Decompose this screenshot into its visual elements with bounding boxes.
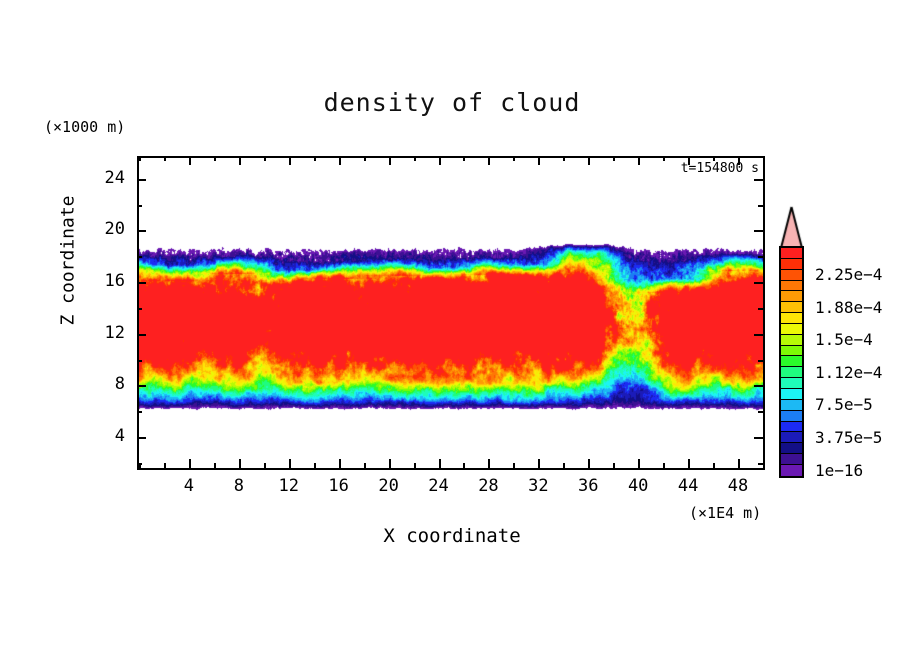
tick-mark <box>364 156 366 161</box>
tick-mark <box>638 459 640 468</box>
tick-mark <box>758 360 763 362</box>
tick-mark <box>139 156 141 161</box>
colorbar-band <box>781 465 802 476</box>
tick-mark <box>663 463 665 468</box>
y-tick-label: 24 <box>93 168 125 188</box>
tick-mark <box>164 156 166 161</box>
colorbar-band <box>781 270 802 281</box>
tick-mark <box>758 205 763 207</box>
tick-mark <box>137 411 142 413</box>
y-tick-label: 20 <box>93 219 125 239</box>
x-axis-title: X coordinate <box>232 525 672 547</box>
tick-mark <box>754 230 763 232</box>
colorbar-band <box>781 422 802 433</box>
colorbar-tick-label: 2.25e−4 <box>815 265 882 284</box>
tick-mark <box>389 156 391 165</box>
colorbar-band <box>781 378 802 389</box>
x-tick-label: 20 <box>369 476 409 496</box>
tick-mark <box>137 179 146 181</box>
tick-mark <box>137 334 146 336</box>
tick-mark <box>763 463 765 468</box>
tick-mark <box>189 459 191 468</box>
colorbar-band <box>781 356 802 367</box>
tick-mark <box>214 463 216 468</box>
tick-mark <box>189 156 191 165</box>
colorbar-band <box>781 454 802 465</box>
tick-mark <box>239 459 241 468</box>
tick-mark <box>488 459 490 468</box>
x-tick-label: 16 <box>319 476 359 496</box>
colorbar-band <box>781 335 802 346</box>
x-tick-label: 4 <box>169 476 209 496</box>
tick-mark <box>137 282 146 284</box>
y-tick-label: 12 <box>93 323 125 343</box>
tick-mark <box>638 156 640 165</box>
plot-area: t=154800 s <box>137 156 765 470</box>
tick-mark <box>513 156 515 161</box>
colorbar-tick-label: 1e−16 <box>815 461 863 480</box>
colorbar-band <box>781 389 802 400</box>
y-axis-unit-label: (×1000 m) <box>44 118 125 136</box>
colorbar-band <box>781 432 802 443</box>
cloud-density-heatmap <box>139 158 763 468</box>
tick-mark <box>289 459 291 468</box>
colorbar-band <box>781 324 802 335</box>
tick-mark <box>754 385 763 387</box>
tick-mark <box>613 156 615 161</box>
colorbar-bands <box>779 246 804 478</box>
tick-mark <box>488 156 490 165</box>
tick-mark <box>414 156 416 161</box>
x-tick-label: 36 <box>568 476 608 496</box>
x-tick-label: 12 <box>269 476 309 496</box>
x-tick-label: 8 <box>219 476 259 496</box>
colorbar-tick-label: 3.75e−5 <box>815 428 882 447</box>
tick-mark <box>137 360 142 362</box>
tick-mark <box>414 463 416 468</box>
colorbar-band <box>781 367 802 378</box>
x-tick-label: 48 <box>718 476 758 496</box>
colorbar-band <box>781 346 802 357</box>
tick-mark <box>588 156 590 165</box>
tick-mark <box>439 459 441 468</box>
tick-mark <box>738 459 740 468</box>
colorbar-tick-label: 1.12e−4 <box>815 363 882 382</box>
tick-mark <box>214 156 216 161</box>
tick-mark <box>239 156 241 165</box>
colorbar-tick-label: 1.88e−4 <box>815 298 882 317</box>
tick-mark <box>314 463 316 468</box>
colorbar-tick-label: 7.5e−5 <box>815 395 873 414</box>
tick-mark <box>754 334 763 336</box>
tick-mark <box>289 156 291 165</box>
x-tick-label: 32 <box>518 476 558 496</box>
y-tick-label: 4 <box>93 426 125 446</box>
tick-mark <box>563 463 565 468</box>
colorbar-band <box>781 411 802 422</box>
tick-mark <box>758 308 763 310</box>
colorbar: 1e−163.75e−57.5e−51.12e−41.5e−41.88e−42.… <box>779 205 806 478</box>
y-tick-label: 16 <box>93 271 125 291</box>
colorbar-band <box>781 400 802 411</box>
tick-mark <box>588 459 590 468</box>
x-tick-label: 24 <box>419 476 459 496</box>
tick-mark <box>389 459 391 468</box>
tick-mark <box>439 156 441 165</box>
colorbar-tick-label: 1.5e−4 <box>815 330 873 349</box>
tick-mark <box>538 459 540 468</box>
tick-mark <box>613 463 615 468</box>
x-tick-label: 44 <box>668 476 708 496</box>
tick-mark <box>463 156 465 161</box>
x-tick-label: 40 <box>618 476 658 496</box>
tick-mark <box>463 463 465 468</box>
y-axis-title: Z coordinate <box>58 181 79 341</box>
tick-mark <box>713 463 715 468</box>
colorbar-band <box>781 248 802 259</box>
tick-mark <box>538 156 540 165</box>
tick-mark <box>137 256 142 258</box>
tick-mark <box>137 385 146 387</box>
colorbar-band <box>781 443 802 454</box>
tick-mark <box>563 156 565 161</box>
tick-mark <box>364 463 366 468</box>
tick-mark <box>758 411 763 413</box>
tick-mark <box>754 282 763 284</box>
colorbar-band <box>781 291 802 302</box>
y-tick-label: 8 <box>93 374 125 394</box>
tick-mark <box>754 437 763 439</box>
page-title: density of cloud <box>0 88 904 117</box>
tick-mark <box>137 205 142 207</box>
colorbar-band <box>781 302 802 313</box>
tick-mark <box>137 437 146 439</box>
tick-mark <box>688 459 690 468</box>
colorbar-overflow-arrow <box>779 205 804 249</box>
timestamp-annotation: t=154800 s <box>681 161 759 176</box>
colorbar-band <box>781 281 802 292</box>
x-tick-label: 28 <box>468 476 508 496</box>
tick-mark <box>339 156 341 165</box>
tick-mark <box>137 230 146 232</box>
tick-mark <box>754 179 763 181</box>
x-axis-unit-label: (×1E4 m) <box>689 504 761 522</box>
tick-mark <box>137 463 142 465</box>
tick-mark <box>339 459 341 468</box>
tick-mark <box>264 156 266 161</box>
colorbar-band <box>781 313 802 324</box>
tick-mark <box>264 463 266 468</box>
tick-mark <box>164 463 166 468</box>
tick-mark <box>758 256 763 258</box>
tick-mark <box>137 308 142 310</box>
tick-mark <box>758 463 763 465</box>
tick-mark <box>314 156 316 161</box>
tick-mark <box>663 156 665 161</box>
figure-canvas: density of cloud (×1000 m) (×1E4 m) Z co… <box>0 0 904 654</box>
colorbar-band <box>781 259 802 270</box>
tick-mark <box>513 463 515 468</box>
tick-mark <box>763 156 765 161</box>
